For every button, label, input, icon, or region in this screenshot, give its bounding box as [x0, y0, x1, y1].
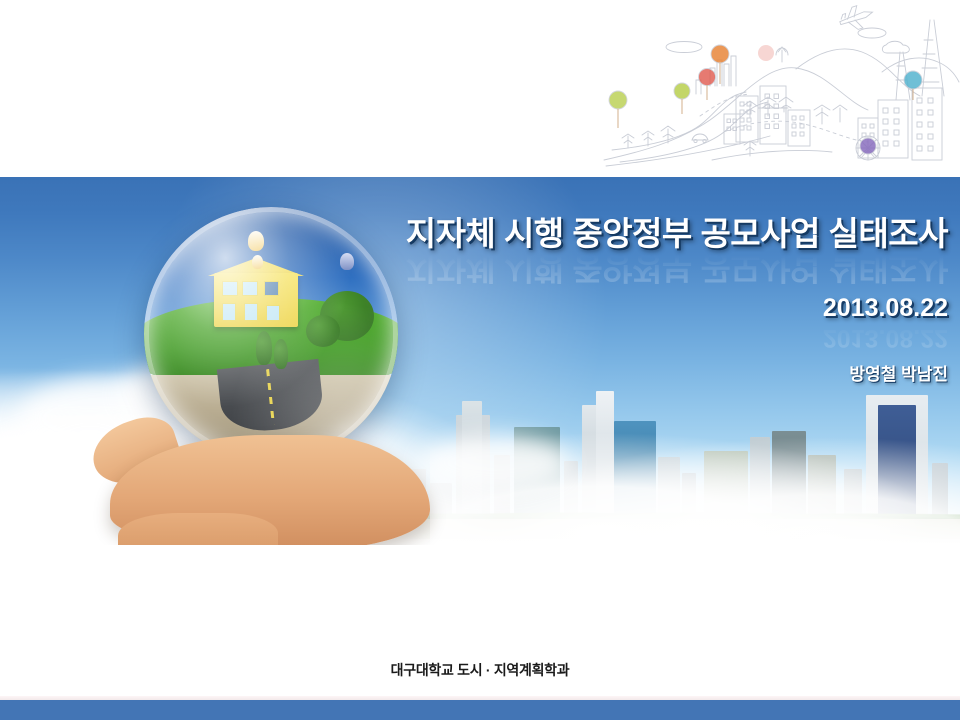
presentation-date: 2013.08.22 [406, 294, 948, 323]
wrist [118, 513, 278, 545]
cloud [420, 435, 570, 491]
hero-photo-band: 지자체 시행 중앙정부 공모사업 실태조사 지자체 시행 중앙정부 공모사업 실… [0, 177, 960, 545]
footer-affiliation: 대구대학교 도시 · 지역계획학과 [0, 660, 960, 680]
presentation-date-reflection: 2013.08.22 [406, 323, 948, 352]
globe-rim [144, 207, 398, 461]
page-title: 지자체 시행 중앙정부 공모사업 실태조사 [406, 217, 948, 250]
page-title-reflection: 지자체 시행 중앙정부 공모사업 실태조사 [406, 251, 948, 284]
city-landscape-sketch [600, 0, 960, 175]
bottom-accent-bar [0, 700, 960, 720]
glass-globe [144, 207, 398, 461]
title-block: 지자체 시행 중앙정부 공모사업 실태조사 지자체 시행 중앙정부 공모사업 실… [406, 217, 948, 385]
author-names: 방영철 박남진 [406, 360, 948, 385]
presentation-slide: 지자체 시행 중앙정부 공모사업 실태조사 지자체 시행 중앙정부 공모사업 실… [0, 0, 960, 720]
